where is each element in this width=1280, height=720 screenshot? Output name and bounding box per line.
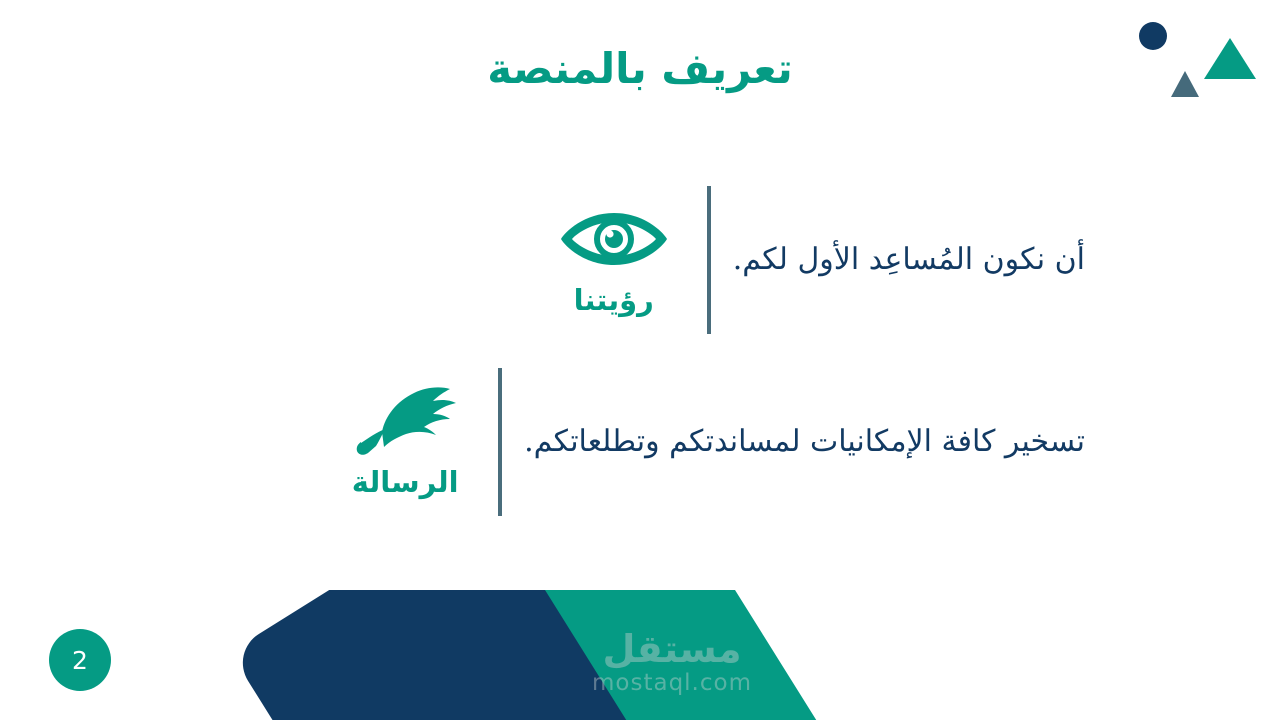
mission-text: تسخير كافة الإمكانيات لمساندتكم وتطلعاتك… xyxy=(524,422,1085,463)
eye-icon xyxy=(559,203,669,275)
teal-blob-shape xyxy=(420,590,849,720)
teal-triangle-icon xyxy=(1204,38,1256,79)
slate-triangle-icon xyxy=(1171,71,1199,97)
watermark-arabic: مستقل xyxy=(557,630,787,668)
page-title: تعريف بالمنصة xyxy=(0,46,1280,92)
vision-divider xyxy=(707,186,711,334)
vision-label: رؤيتنا xyxy=(574,285,654,317)
watermark-latin: mostaql.com xyxy=(557,672,787,695)
mission-row: تسخير كافة الإمكانيات لمساندتكم وتطلعاتك… xyxy=(330,368,1085,516)
vision-icon-block: رؤيتنا xyxy=(539,203,689,317)
navy-circle-icon xyxy=(1139,22,1167,50)
slide: تعريف بالمنصة أن نكون المُساعِد الأول لك… xyxy=(0,0,1280,720)
vision-text: أن نكون المُساعِد الأول لكم. xyxy=(733,240,1085,281)
bottom-decoration xyxy=(0,590,1280,720)
feather-icon xyxy=(352,385,458,457)
mission-icon-block: الرسالة xyxy=(330,385,480,499)
mission-label: الرسالة xyxy=(352,467,459,499)
mission-divider xyxy=(498,368,502,516)
page-number-badge: 2 xyxy=(49,629,111,691)
navy-blob-shape xyxy=(230,590,659,720)
vision-row: أن نكون المُساعِد الأول لكم. رؤيتنا xyxy=(539,186,1085,334)
watermark: مستقل mostaql.com xyxy=(557,630,787,695)
